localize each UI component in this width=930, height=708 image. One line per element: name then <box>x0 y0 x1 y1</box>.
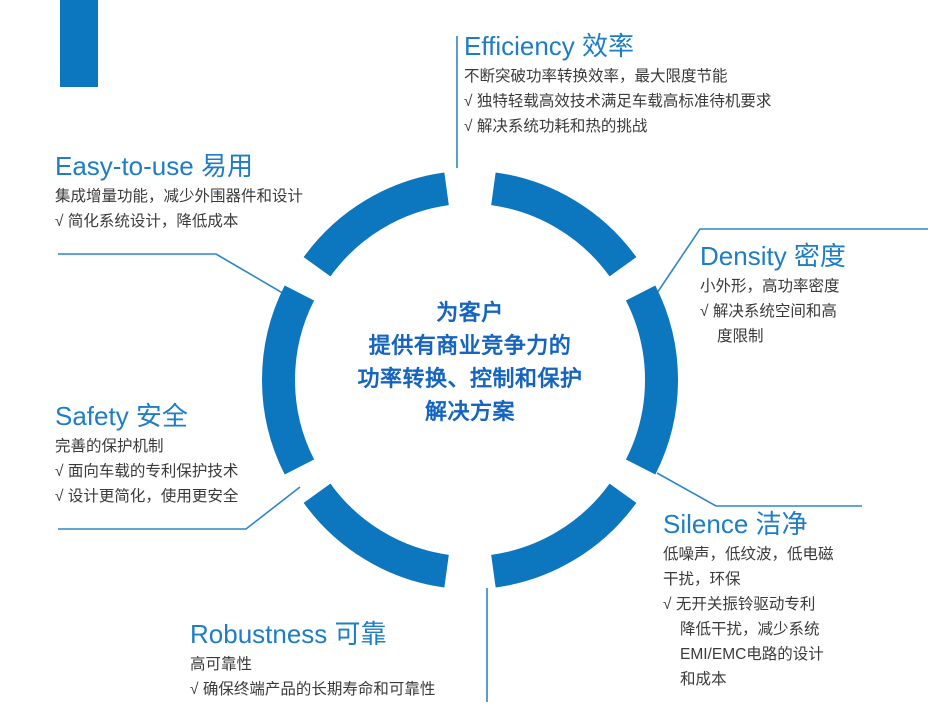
callout-safety-line-3: √ 设计更简化，使用更安全 <box>55 484 355 509</box>
callout-robustness: Robustness 可靠 高可靠性 √ 确保终端产品的长期寿命和可靠性 <box>190 618 530 702</box>
callout-easy-to-use: Easy-to-use 易用 集成增量功能，减少外围器件和设计 √ 简化系统设计… <box>55 150 385 234</box>
callout-efficiency-line-3: √ 解决系统功耗和热的挑战 <box>464 114 884 139</box>
callout-efficiency: Efficiency 效率 不断突破功率转换效率，最大限度节能 √ 独特轻载高效… <box>464 30 884 139</box>
ring-arc-1 <box>493 189 623 267</box>
callout-silence-line-5: EMI/EMC电路的设计 <box>663 642 913 667</box>
callout-silence-line-2: 干扰，环保 <box>663 567 913 592</box>
connector-silence <box>657 473 862 506</box>
callout-density-line-3: 度限制 <box>700 324 915 349</box>
callout-density: Density 密度 小外形，高功率密度 √ 解决系统空间和高 度限制 <box>700 240 915 349</box>
callout-silence-line-4: 降低干扰，减少系统 <box>663 617 913 642</box>
center-line-2: 提供有商业竞争力的 <box>330 329 610 362</box>
ring-arc-3 <box>493 493 623 571</box>
slide-canvas: 为客户 提供有商业竞争力的 功率转换、控制和保护 解决方案 Efficiency… <box>0 0 930 708</box>
connector-easy-to-use <box>58 254 286 295</box>
callout-silence-line-6: 和成本 <box>663 667 913 692</box>
callout-safety: Safety 安全 完善的保护机制 √ 面向车载的专利保护技术 √ 设计更简化，… <box>55 400 355 509</box>
callout-density-line-2: √ 解决系统空间和高 <box>700 299 915 324</box>
callout-silence-line-3: √ 无开关振铃驱动专利 <box>663 592 913 617</box>
center-line-3: 功率转换、控制和保护 <box>330 362 610 395</box>
callout-easy-to-use-line-2: √ 简化系统设计，降低成本 <box>55 209 385 234</box>
callout-safety-line-2: √ 面向车载的专利保护技术 <box>55 459 355 484</box>
callout-density-title: Density 密度 <box>700 240 915 272</box>
center-line-4: 解决方案 <box>330 395 610 428</box>
ring-arc-2 <box>641 293 662 467</box>
callout-silence: Silence 洁净 低噪声，低纹波，低电磁 干扰，环保 √ 无开关振铃驱动专利… <box>663 508 913 692</box>
callout-density-line-1: 小外形，高功率密度 <box>700 274 915 299</box>
callout-silence-title: Silence 洁净 <box>663 508 913 540</box>
callout-efficiency-line-1: 不断突破功率转换效率，最大限度节能 <box>464 64 884 89</box>
center-line-1: 为客户 <box>330 296 610 329</box>
center-statement: 为客户 提供有商业竞争力的 功率转换、控制和保护 解决方案 <box>330 296 610 428</box>
callout-easy-to-use-title: Easy-to-use 易用 <box>55 150 385 182</box>
callout-safety-line-1: 完善的保护机制 <box>55 434 355 459</box>
callout-robustness-title: Robustness 可靠 <box>190 618 530 650</box>
callout-robustness-line-1: 高可靠性 <box>190 652 530 677</box>
callout-safety-title: Safety 安全 <box>55 400 355 432</box>
callout-efficiency-line-2: √ 独特轻载高效技术满足车载高标准待机要求 <box>464 89 884 114</box>
callout-silence-line-1: 低噪声，低纹波，低电磁 <box>663 542 913 567</box>
callout-efficiency-title: Efficiency 效率 <box>464 30 884 62</box>
callout-easy-to-use-line-1: 集成增量功能，减少外围器件和设计 <box>55 184 385 209</box>
callout-robustness-line-2: √ 确保终端产品的长期寿命和可靠性 <box>190 677 530 702</box>
